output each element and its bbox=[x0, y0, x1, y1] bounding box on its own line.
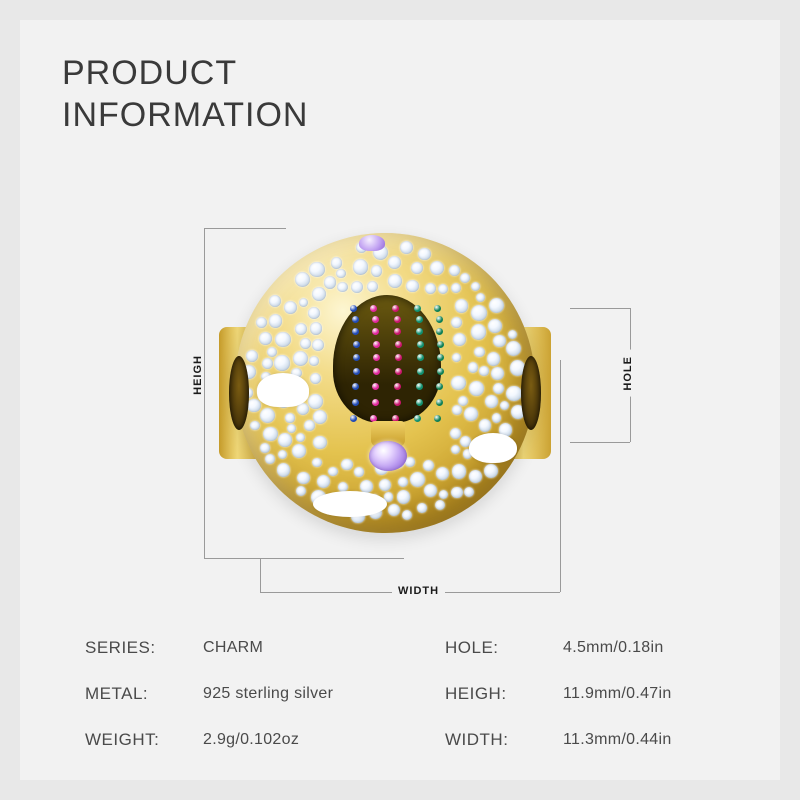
cz-stone bbox=[418, 248, 430, 260]
hole-label: HOLE bbox=[622, 350, 634, 397]
cz-stone bbox=[278, 450, 287, 459]
cz-stone bbox=[491, 367, 504, 380]
height-guide-line bbox=[204, 228, 205, 558]
cz-stone bbox=[388, 274, 402, 288]
cz-stone bbox=[269, 295, 281, 307]
cz-stone bbox=[371, 265, 382, 276]
page-title: PRODUCT INFORMATION bbox=[62, 52, 308, 136]
cz-stone bbox=[451, 376, 465, 390]
cz-stone bbox=[423, 460, 434, 471]
balloon-gem bbox=[353, 354, 360, 361]
cz-stone bbox=[351, 281, 363, 293]
cz-stone bbox=[336, 269, 345, 278]
cz-stone bbox=[450, 428, 461, 439]
cz-stone bbox=[310, 322, 323, 335]
cz-stone bbox=[293, 351, 308, 366]
balloon-gem bbox=[352, 316, 359, 323]
cz-stone bbox=[260, 443, 270, 453]
cz-stone bbox=[260, 408, 275, 423]
cz-stone bbox=[402, 510, 412, 520]
cz-stone bbox=[262, 358, 273, 369]
cz-stone bbox=[246, 350, 258, 362]
cz-stone bbox=[310, 373, 321, 384]
cz-stone bbox=[308, 307, 320, 319]
cz-stone bbox=[256, 317, 267, 328]
balloon-envelope bbox=[333, 295, 441, 423]
balloon-gem bbox=[416, 316, 423, 323]
cz-stone bbox=[296, 433, 305, 442]
cz-stone bbox=[460, 273, 470, 283]
balloon-gem bbox=[350, 415, 357, 422]
balloon-gem bbox=[395, 341, 402, 348]
cz-stone bbox=[296, 486, 306, 496]
spec-key-metal: METAL: bbox=[85, 684, 203, 704]
balloon-gem bbox=[373, 368, 380, 375]
spec-value-metal: 925 sterling silver bbox=[203, 685, 333, 703]
cz-stone bbox=[337, 282, 347, 292]
cz-stone bbox=[277, 463, 290, 476]
spec-key-weight: WEIGHT: bbox=[85, 730, 203, 750]
cz-stone bbox=[469, 470, 481, 482]
balloon-gem bbox=[436, 316, 443, 323]
cz-stone bbox=[436, 467, 449, 480]
cz-stone bbox=[269, 314, 282, 327]
balloon-gem bbox=[395, 354, 402, 361]
spec-row: SERIES: CHARM bbox=[85, 625, 415, 671]
balloon-gem bbox=[395, 368, 402, 375]
spec-key-heigh: HEIGH: bbox=[445, 684, 563, 704]
cz-stone bbox=[331, 257, 342, 268]
cz-stone bbox=[500, 401, 509, 410]
balloon-gem bbox=[394, 399, 401, 406]
balloon-gem bbox=[436, 328, 443, 335]
balloon-gem bbox=[353, 341, 360, 348]
cz-stone bbox=[267, 347, 277, 357]
cz-stone bbox=[259, 332, 272, 345]
spec-row: WIDTH: 11.3mm/0.44in bbox=[445, 717, 765, 763]
cz-stone bbox=[292, 444, 306, 458]
cz-stone bbox=[275, 332, 290, 347]
cz-stone bbox=[312, 458, 321, 467]
cz-stone bbox=[476, 293, 485, 302]
cz-stone bbox=[324, 276, 336, 288]
cz-stone bbox=[493, 383, 504, 394]
cz-stone bbox=[438, 284, 448, 294]
cz-stone bbox=[388, 504, 400, 516]
cz-stone bbox=[430, 261, 444, 275]
cz-stone bbox=[487, 352, 501, 366]
spec-value-hole: 4.5mm/0.18in bbox=[563, 639, 664, 657]
cz-stone bbox=[247, 399, 261, 413]
cz-stone bbox=[297, 472, 310, 485]
spec-row: HEIGH: 11.9mm/0.47in bbox=[445, 671, 765, 717]
spec-column-right: HOLE: 4.5mm/0.18in HEIGH: 11.9mm/0.47in … bbox=[445, 625, 765, 763]
cz-stone bbox=[479, 419, 491, 431]
cz-stone bbox=[341, 459, 353, 471]
cz-stone bbox=[489, 298, 505, 314]
cz-stone bbox=[417, 503, 426, 512]
product-image bbox=[225, 218, 545, 568]
cz-stone bbox=[309, 262, 325, 278]
spec-key-width: WIDTH: bbox=[445, 730, 563, 750]
spec-key-hole: HOLE: bbox=[445, 638, 563, 658]
balloon-gem bbox=[417, 341, 424, 348]
hole-guide-bottom bbox=[570, 442, 630, 443]
cz-stone bbox=[471, 282, 481, 292]
balloon-gem bbox=[372, 399, 379, 406]
balloon-gem bbox=[373, 341, 380, 348]
cz-stone bbox=[274, 355, 289, 370]
balloon-gem bbox=[416, 399, 423, 406]
cz-stone bbox=[492, 413, 502, 423]
cz-stone bbox=[452, 464, 466, 478]
cz-stone bbox=[479, 366, 488, 375]
cz-stone bbox=[452, 405, 462, 415]
balloon-gem bbox=[373, 354, 380, 361]
cz-stone bbox=[398, 477, 408, 487]
bead-hole-right bbox=[521, 356, 541, 430]
balloon-gem bbox=[352, 399, 359, 406]
cz-stone bbox=[451, 317, 462, 328]
cz-stone bbox=[295, 272, 310, 287]
cz-stone bbox=[439, 490, 448, 499]
cz-stone bbox=[485, 395, 498, 408]
cz-stone bbox=[449, 265, 460, 276]
cz-stone bbox=[284, 301, 297, 314]
cz-stone bbox=[300, 338, 311, 349]
width-label: WIDTH bbox=[392, 585, 445, 597]
cz-stone bbox=[353, 259, 368, 274]
cz-stone bbox=[471, 324, 487, 340]
height-label: HEIGH bbox=[192, 355, 204, 395]
cz-stone bbox=[309, 356, 319, 366]
cz-stone bbox=[506, 386, 522, 402]
cz-stone bbox=[455, 299, 468, 312]
product-info-panel: PRODUCT INFORMATION HEIGH WIDTH HOLE bbox=[20, 20, 780, 780]
cz-stone bbox=[367, 281, 378, 292]
cz-stone bbox=[285, 413, 295, 423]
balloon-gem bbox=[417, 368, 424, 375]
cz-stone bbox=[471, 305, 487, 321]
cz-stone bbox=[451, 445, 460, 454]
hole-guide-top bbox=[570, 308, 630, 309]
bead-hole-left bbox=[229, 356, 249, 430]
hot-air-balloon-motif bbox=[323, 295, 451, 455]
cz-stone bbox=[410, 472, 425, 487]
spec-value-heigh: 11.9mm/0.47in bbox=[563, 685, 672, 703]
cz-stone bbox=[425, 283, 436, 294]
cz-stone bbox=[453, 333, 466, 346]
cz-stone bbox=[379, 479, 391, 491]
balloon-gem bbox=[436, 399, 443, 406]
cz-stone bbox=[304, 420, 314, 430]
enamel-cloud-right bbox=[469, 433, 517, 463]
charm-bead bbox=[235, 233, 535, 533]
cz-stone bbox=[451, 487, 462, 498]
cz-stone bbox=[287, 424, 296, 433]
balloon-gem bbox=[437, 354, 444, 361]
purple-gem-top bbox=[359, 235, 385, 251]
cz-stone bbox=[464, 407, 478, 421]
cz-stone bbox=[451, 283, 461, 293]
cz-stone bbox=[295, 323, 307, 335]
spec-value-width: 11.3mm/0.44in bbox=[563, 731, 672, 749]
cz-stone bbox=[474, 347, 484, 357]
spec-column-left: SERIES: CHARM METAL: 925 sterling silver… bbox=[85, 625, 415, 763]
cz-stone bbox=[468, 362, 478, 372]
cz-stone bbox=[488, 319, 502, 333]
cz-stone bbox=[308, 394, 323, 409]
cz-stone bbox=[411, 262, 423, 274]
cz-stone bbox=[317, 475, 330, 488]
cz-stone bbox=[388, 256, 401, 269]
cz-stone bbox=[263, 427, 277, 441]
cz-stone bbox=[299, 298, 308, 307]
cz-stone bbox=[493, 335, 506, 348]
enamel-cloud-bottom bbox=[313, 491, 387, 517]
cz-stone bbox=[508, 330, 517, 339]
spec-row: WEIGHT: 2.9g/0.102oz bbox=[85, 717, 415, 763]
cz-stone bbox=[400, 241, 413, 254]
balloon-gem bbox=[436, 383, 443, 390]
spec-value-series: CHARM bbox=[203, 639, 263, 657]
cz-stone bbox=[328, 467, 337, 476]
cz-stone bbox=[424, 484, 437, 497]
cz-stone bbox=[458, 396, 468, 406]
balloon-gem bbox=[372, 316, 379, 323]
cz-stone bbox=[265, 454, 275, 464]
purple-gem-bottom bbox=[369, 441, 407, 471]
cz-stone bbox=[506, 341, 521, 356]
cz-stone bbox=[484, 464, 498, 478]
enamel-cloud-left bbox=[257, 373, 309, 407]
balloon-gem bbox=[414, 415, 421, 422]
cz-stone bbox=[469, 381, 484, 396]
spec-row: METAL: 925 sterling silver bbox=[85, 671, 415, 717]
cz-stone bbox=[354, 467, 364, 477]
cz-stone bbox=[435, 500, 446, 511]
width-guide-right bbox=[560, 360, 561, 592]
cz-stone bbox=[406, 280, 418, 292]
cz-stone bbox=[397, 490, 411, 504]
cz-stone bbox=[360, 480, 373, 493]
balloon-gem bbox=[417, 354, 424, 361]
product-diagram: HEIGH WIDTH HOLE bbox=[170, 200, 590, 600]
balloon-gem bbox=[434, 305, 441, 312]
cz-stone bbox=[452, 353, 461, 362]
cz-stone bbox=[464, 487, 474, 497]
balloon-gem bbox=[394, 316, 401, 323]
balloon-gem bbox=[437, 368, 444, 375]
spec-value-weight: 2.9g/0.102oz bbox=[203, 731, 299, 749]
cz-stone bbox=[278, 433, 291, 446]
specifications: SERIES: CHARM METAL: 925 sterling silver… bbox=[20, 625, 780, 780]
spec-row: HOLE: 4.5mm/0.18in bbox=[445, 625, 765, 671]
balloon-gem bbox=[437, 341, 444, 348]
cz-stone bbox=[250, 421, 260, 431]
balloon-gem bbox=[434, 415, 441, 422]
balloon-gem bbox=[353, 368, 360, 375]
spec-key-series: SERIES: bbox=[85, 638, 203, 658]
